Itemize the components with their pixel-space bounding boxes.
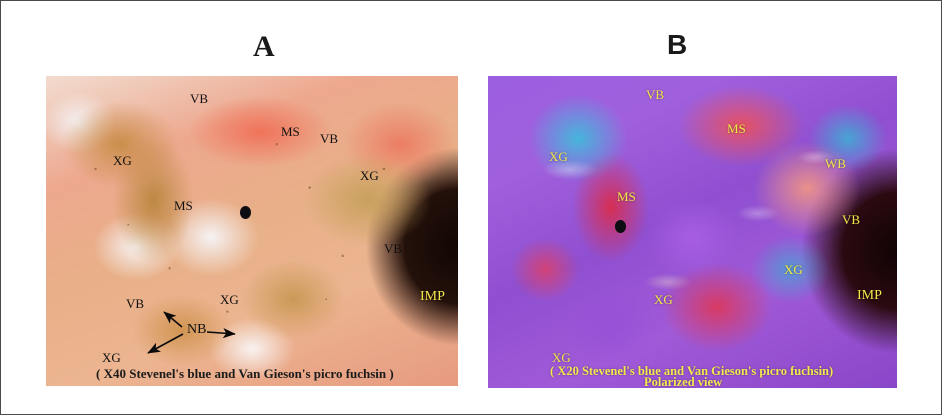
label-imp-a: IMP	[420, 290, 445, 304]
label-xg-b3: XG	[654, 293, 673, 306]
label-nb-a: NB	[187, 323, 206, 337]
label-vb-b1: VB	[646, 88, 664, 101]
label-xg-a4: XG	[102, 351, 121, 364]
label-ms-b2: MS	[617, 190, 636, 203]
label-vb-a4: VB	[126, 297, 144, 310]
label-ms-a1: MS	[281, 125, 300, 138]
label-xg-a1: XG	[113, 154, 132, 167]
panel-a-dark-inclusion	[240, 206, 251, 219]
panel-b-caption-line2: Polarized view	[644, 376, 722, 389]
label-ms-b1: MS	[727, 122, 746, 135]
panel-b-dark-inclusion	[615, 220, 626, 233]
label-vb-a1: VB	[190, 92, 208, 105]
panel-b-micrograph	[488, 76, 897, 388]
panel-b-letter: B	[667, 31, 687, 59]
label-ms-a2: MS	[174, 199, 193, 212]
panel-a-micrograph	[46, 76, 458, 386]
label-vb-a2: VB	[320, 132, 338, 145]
label-xg-a2: XG	[360, 169, 379, 182]
panel-a-letter: A	[253, 32, 275, 62]
label-xg-b1: XG	[549, 150, 568, 163]
panel-a-caption: ( X40 Stevenel's blue and Van Gieson's p…	[96, 367, 394, 381]
label-xg-a3: XG	[220, 293, 239, 306]
label-vb-a3: VB	[384, 242, 402, 255]
figure-container: A VB MS VB XG XG MS VB VB XG NB XG IMP (…	[0, 0, 942, 415]
label-xg-b2: XG	[784, 263, 803, 276]
label-xg-b4: XG	[552, 351, 571, 364]
label-vb-b2: VB	[842, 213, 860, 226]
label-imp-b: IMP	[857, 289, 882, 303]
label-wb-b: WB	[825, 157, 846, 170]
